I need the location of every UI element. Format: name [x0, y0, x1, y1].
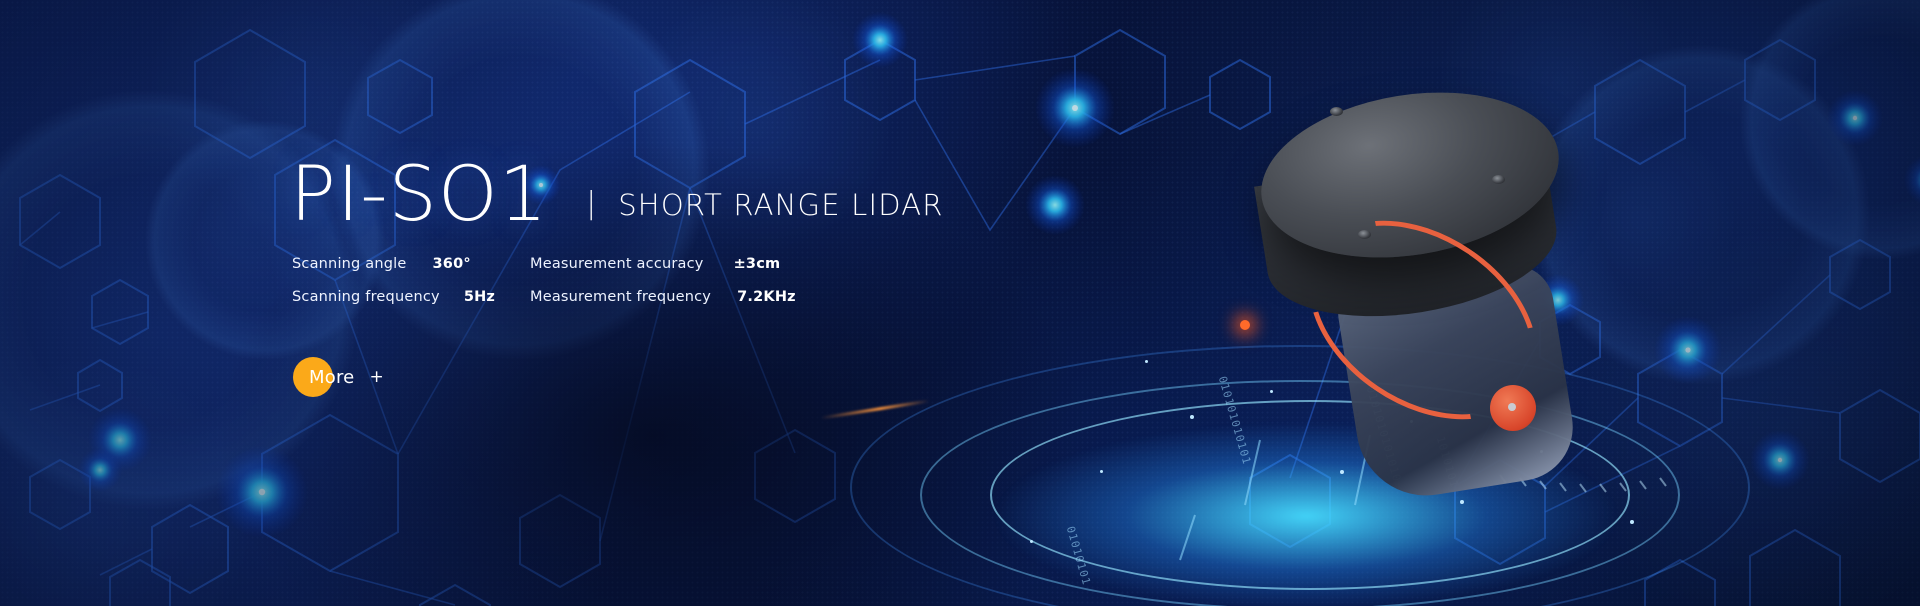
drive-belt: [1272, 180, 1574, 461]
spec-label: Scanning angle: [292, 256, 407, 272]
screw-icon: [1492, 175, 1505, 184]
title-row: PI-SO1 | SHORT RANGE LIDAR: [290, 155, 944, 233]
spec-measurement-accuracy: Measurement accuracy ±3cm: [530, 256, 870, 289]
product-hero-banner: 010101010101 0101010101010 01010101 1010…: [0, 0, 1920, 606]
more-button[interactable]: More +: [290, 354, 384, 400]
spec-list: Scanning angle 360° Measurement accuracy…: [292, 256, 870, 322]
spec-scanning-frequency: Scanning frequency 5Hz: [292, 289, 530, 322]
spec-label: Measurement frequency: [530, 289, 711, 305]
spec-value: ±3cm: [734, 256, 781, 272]
title-separator: |: [586, 189, 596, 219]
plus-icon: +: [369, 367, 383, 387]
page-title: PI-SO1: [290, 155, 548, 233]
lidar-device-image: [1240, 85, 1670, 485]
spec-measurement-frequency: Measurement frequency 7.2KHz: [530, 289, 870, 322]
lidar-base: [1335, 260, 1581, 506]
binary-decoration: 010101010101: [1216, 375, 1254, 467]
spec-value: 360°: [433, 256, 471, 272]
spec-label: Scanning frequency: [292, 289, 440, 305]
spec-scanning-angle: Scanning angle 360°: [292, 256, 530, 289]
binary-decoration: 1010101: [1434, 435, 1461, 490]
screw-icon: [1330, 107, 1343, 116]
drive-pulley: [1490, 385, 1536, 431]
more-button-label: More: [309, 367, 354, 388]
binary-decoration: 0101010101010: [1364, 385, 1404, 484]
screw-icon: [1358, 230, 1371, 239]
lidar-body: [1254, 141, 1566, 335]
hero-content: PI-SO1 | SHORT RANGE LIDAR Scanning angl…: [290, 0, 1190, 606]
product-subtitle: SHORT RANGE LIDAR: [618, 190, 943, 220]
spec-label: Measurement accuracy: [530, 256, 704, 272]
laser-point-decoration: [1240, 320, 1250, 330]
pulley-center: [1508, 403, 1516, 411]
lidar-top-cover: [1249, 73, 1570, 278]
spec-value: 5Hz: [464, 289, 495, 305]
spec-value: 7.2KHz: [737, 289, 796, 305]
